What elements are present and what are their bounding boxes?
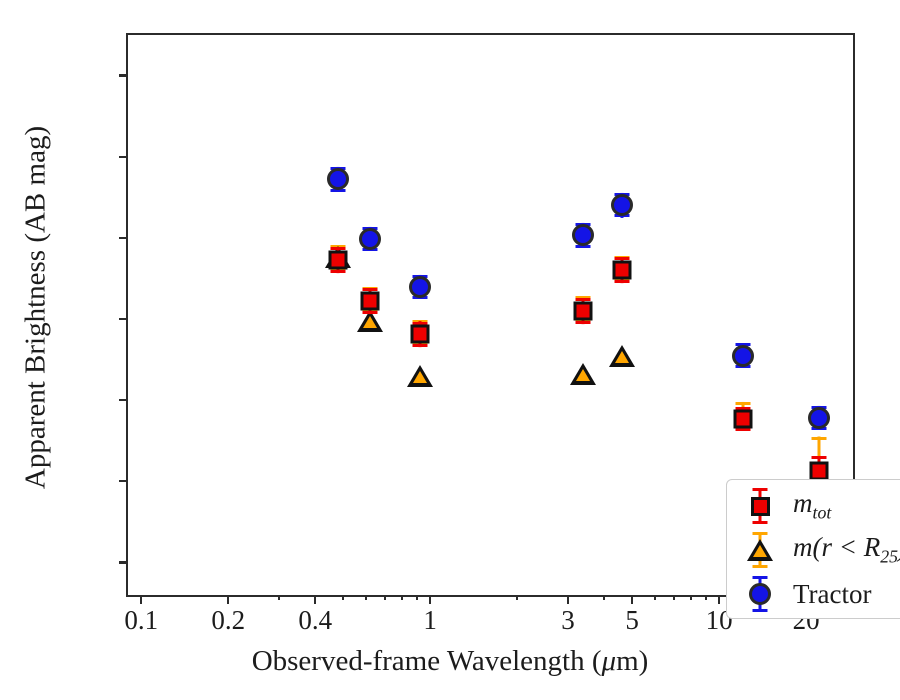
m_tot-2-errorcap-bottom [412,344,427,347]
circle-marker-icon [749,583,771,605]
data-point-m_tot-4 [613,261,632,280]
x-tick-0.7 [384,595,386,600]
x-tick-0.2 [227,595,229,604]
y-tick-14 [119,237,128,239]
x-tick-1 [429,595,431,604]
legend-marker-circle [727,572,793,616]
legend-errorcap-bottom-blue [753,609,768,612]
x-tick-3 [567,595,569,604]
legend-errorcap-bottom-red [753,521,768,524]
m_tot-1-errorcap-bottom [363,311,378,314]
x-tick-0.3 [278,595,280,600]
x-tick-label-0.4: 0.4 [298,607,332,634]
data-point-Tractor-2 [409,276,431,298]
legend-errorcap-bottom-orange [753,565,768,568]
x-axis-label-suffix: m) [616,645,648,677]
x-tick-6 [654,595,656,600]
legend-entry-m-tot[interactable]: mtot [727,484,900,528]
x-tick-0.1 [140,595,142,604]
x-tick-10 [718,595,720,604]
legend-entry-m-r25[interactable]: m(r < R25) [727,528,900,572]
x-tick-9 [705,595,707,600]
x-axis-label: Observed-frame Wavelength (μm) [0,645,900,678]
x-tick-0.6 [365,595,367,600]
m_r25-5-errorcap-top [736,402,751,405]
m_tot-3-errorcap-bottom [575,321,590,324]
data-point-Tractor-4 [611,194,633,216]
data-point-m_tot-1 [361,292,380,311]
legend-label-m-r25: m(r < R25) [793,532,900,567]
x-tick-0.9 [416,595,418,600]
data-point-m_tot-2 [410,325,429,344]
x-tick-4 [603,595,605,600]
x-tick-label-1: 1 [423,607,437,634]
legend[interactable]: mtot m(r < R25) Tractor [726,479,900,619]
legend-errorcap-top-red [753,488,768,491]
data-point-Tractor-5 [732,345,754,367]
legend-marker-triangle [727,528,793,572]
triangle-marker-icon [747,539,773,561]
m_r25-6-errorcap-top [812,437,827,440]
x-tick-label-0.1: 0.1 [124,607,158,634]
y-tick-10 [119,561,128,563]
legend-errorcap-top-blue [753,576,768,579]
x-tick-0.4 [314,595,316,604]
legend-marker-square [727,484,793,528]
x-axis-label-mu: μ [602,645,617,677]
data-point-Tractor-0 [327,168,349,190]
square-marker-icon [751,497,770,516]
y-tick-15 [119,156,128,158]
data-point-Tractor-6 [808,407,830,429]
y-tick-13 [119,318,128,320]
x-tick-0.5 [342,595,344,600]
data-point-m_tot-0 [329,250,348,269]
plot-area: 10111213141516 0.10.20.41351020 mtot [126,33,855,597]
x-tick-label-5: 5 [625,607,639,634]
legend-label-tractor: Tractor [793,579,872,610]
y-tick-16 [119,74,128,76]
x-tick-label-3: 3 [561,607,575,634]
x-tick-0.8 [401,595,403,600]
y-axis-label: Apparent Brightness (AB mag) [20,8,53,608]
data-point-m_r25-4 [609,345,635,367]
data-point-Tractor-1 [359,228,381,250]
x-tick-2 [516,595,518,600]
data-point-m_tot-3 [573,301,592,320]
data-point-m_r25-3 [570,363,596,385]
x-axis-label-text: Observed-frame Wavelength ( [252,645,602,677]
data-point-Tractor-3 [572,224,594,246]
data-point-m_r25-2 [407,365,433,387]
m_tot-4-errorcap-bottom [615,280,630,283]
x-tick-8 [690,595,692,600]
figure: 10111213141516 0.10.20.41351020 mtot [0,0,900,700]
legend-errorcap-top-orange [753,532,768,535]
legend-entry-tractor[interactable]: Tractor [727,572,900,616]
m_tot-0-errorcap-bottom [331,270,346,273]
m_tot-6-errorcap-top [812,456,827,459]
legend-label-m-tot: mtot [793,488,831,523]
data-point-m_tot-6 [810,461,829,480]
x-tick-5 [631,595,633,604]
y-tick-11 [119,480,128,482]
y-tick-12 [119,399,128,401]
data-points-layer [128,35,853,189]
data-point-m_tot-5 [734,409,753,428]
x-tick-label-0.2: 0.2 [211,607,245,634]
x-tick-7 [673,595,675,600]
